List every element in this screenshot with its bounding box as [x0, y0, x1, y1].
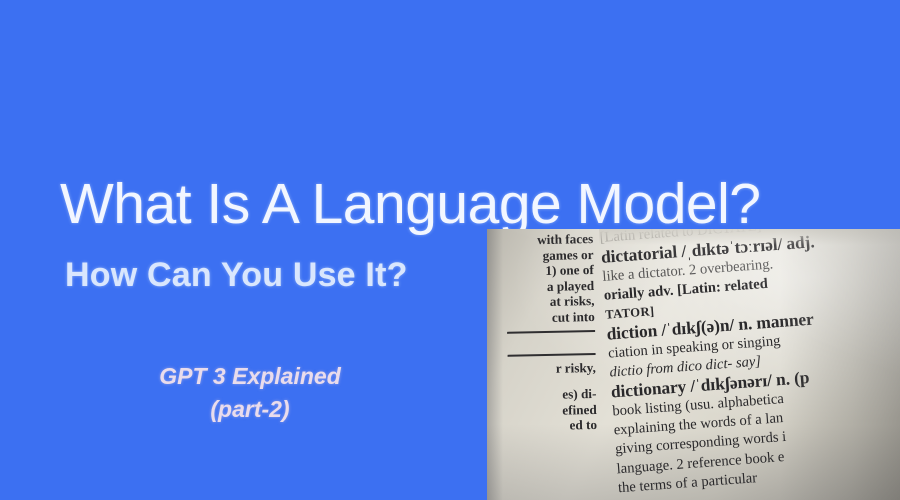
left-frag: ed to: [505, 417, 597, 435]
title-slide: What Is A Language Model? How Can You Us…: [0, 0, 900, 500]
column-rule: [507, 330, 595, 334]
page-subtitle: How Can You Use It?: [65, 256, 408, 295]
left-frag: r risky,: [504, 360, 596, 378]
credit-block: GPT 3 Explained (part-2): [90, 360, 410, 426]
photo-main-column: [Latin related to DICTATE] dictatorial /…: [599, 229, 900, 498]
column-rule: [508, 353, 596, 357]
dictionary-page-photo: with faces games or 1) one of a played a…: [487, 229, 900, 500]
left-frag: es) di-: [504, 386, 596, 404]
photo-left-column: with faces games or 1) one of a played a…: [501, 231, 597, 435]
column-gap: [503, 337, 595, 350]
credit-line-part: (part-2): [90, 393, 410, 426]
credit-line-series: GPT 3 Explained: [90, 360, 410, 393]
left-frag: with faces: [501, 231, 593, 249]
left-frag: cut into: [503, 309, 595, 327]
left-frag: 1) one of: [502, 262, 594, 280]
page-title: What Is A Language Model?: [60, 171, 761, 237]
page-gutter-shadow: [487, 229, 503, 500]
